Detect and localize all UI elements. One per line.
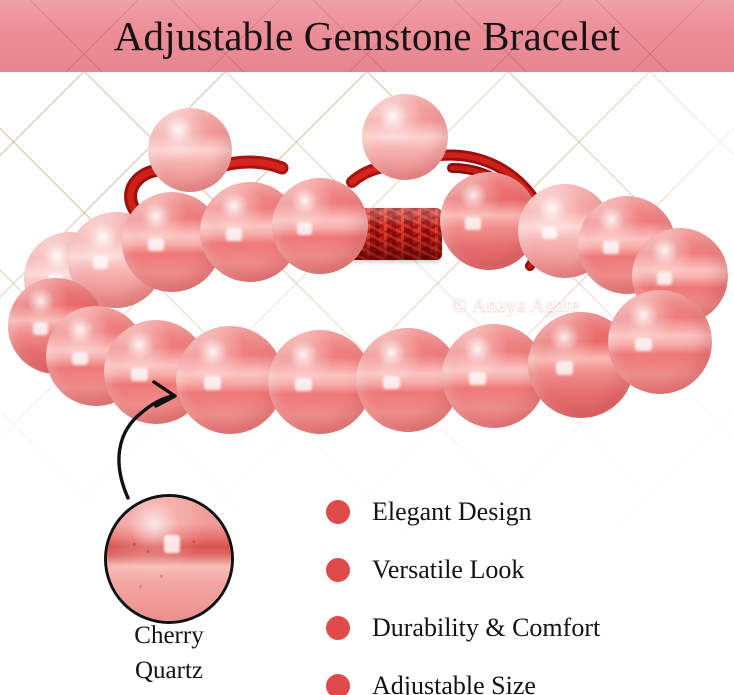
magnified-bead (107, 497, 231, 621)
feature-label: Adjustable Size (372, 671, 536, 695)
feature-label: Elegant Design (372, 497, 532, 527)
bracelet-bead (608, 290, 712, 394)
feature-list: Elegant Design Versatile Look Durability… (326, 483, 726, 695)
sliding-bead-left (148, 108, 232, 192)
sliding-bead-right (362, 94, 448, 180)
bullet-dot-icon (326, 616, 350, 640)
callout-label: Cherry Quartz (40, 618, 298, 688)
callout-label-line2: Quartz (40, 653, 298, 688)
callout-label-line1: Cherry (40, 618, 298, 653)
list-item: Versatile Look (326, 541, 726, 599)
page-title: Adjustable Gemstone Bracelet (0, 0, 734, 72)
feature-label: Versatile Look (372, 555, 524, 585)
feature-label: Durability & Comfort (372, 613, 600, 643)
list-item: Durability & Comfort (326, 599, 726, 657)
bullet-dot-icon (326, 674, 350, 695)
product-image-canvas: Adjustable Gemstone Bracelet (0, 0, 734, 695)
bracelet-bead (272, 178, 368, 274)
bead-inclusions (107, 497, 231, 621)
list-item: Adjustable Size (326, 657, 726, 695)
bullet-dot-icon (326, 500, 350, 524)
magnifier-circle (104, 494, 234, 624)
bullet-dot-icon (326, 558, 350, 582)
list-item: Elegant Design (326, 483, 726, 541)
bracelet-illustration: © Anaya Agate (0, 72, 734, 462)
